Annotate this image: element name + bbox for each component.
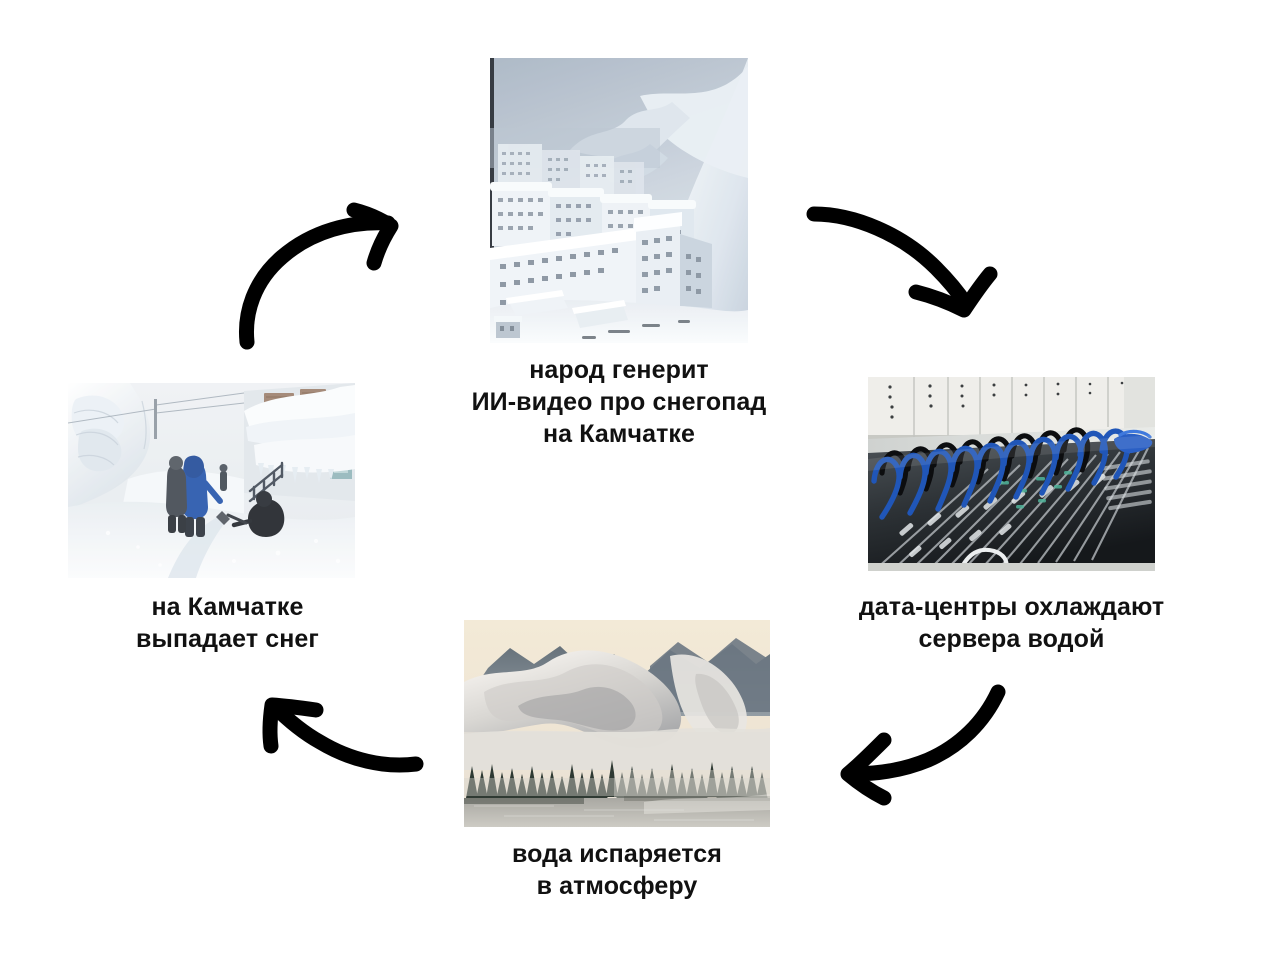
arrow-curved-up-right (236, 203, 426, 349)
caption-datacenter: дата-центры охлаждают сервера водой (800, 591, 1223, 655)
caption-snowfall: на Камчатке выпадает снег (35, 591, 420, 655)
caption-ai-video: народ генерит ИИ-видео про снегопад на К… (389, 354, 849, 450)
meme-canvas: народ генерит ИИ-видео про снегопад на К… (0, 0, 1263, 957)
server-immersion-tank-illustration (868, 377, 1155, 571)
arrow-curved-down-left (832, 678, 1010, 810)
arrow-right-to-bottom-glyph (832, 678, 1010, 810)
photo-ai-generated-snowfall-city (490, 58, 748, 343)
arrow-curved-down-right (806, 200, 1006, 328)
arrow-left-to-top-glyph (236, 203, 426, 349)
photo-water-evaporation-clouds (464, 620, 770, 827)
arrow-curved-up-left (254, 694, 426, 778)
snow-shoveling-illustration (68, 383, 355, 578)
fog-over-lake-illustration (464, 620, 770, 827)
ai-snow-city-illustration (490, 58, 748, 343)
caption-evaporation: вода испаряется в атмосферу (437, 838, 797, 902)
arrow-bottom-to-left-glyph (254, 694, 426, 778)
arrow-top-to-right-glyph (806, 200, 1006, 328)
photo-kamchatka-snowfall (68, 383, 355, 578)
photo-datacenter-water-cooling (868, 377, 1155, 571)
